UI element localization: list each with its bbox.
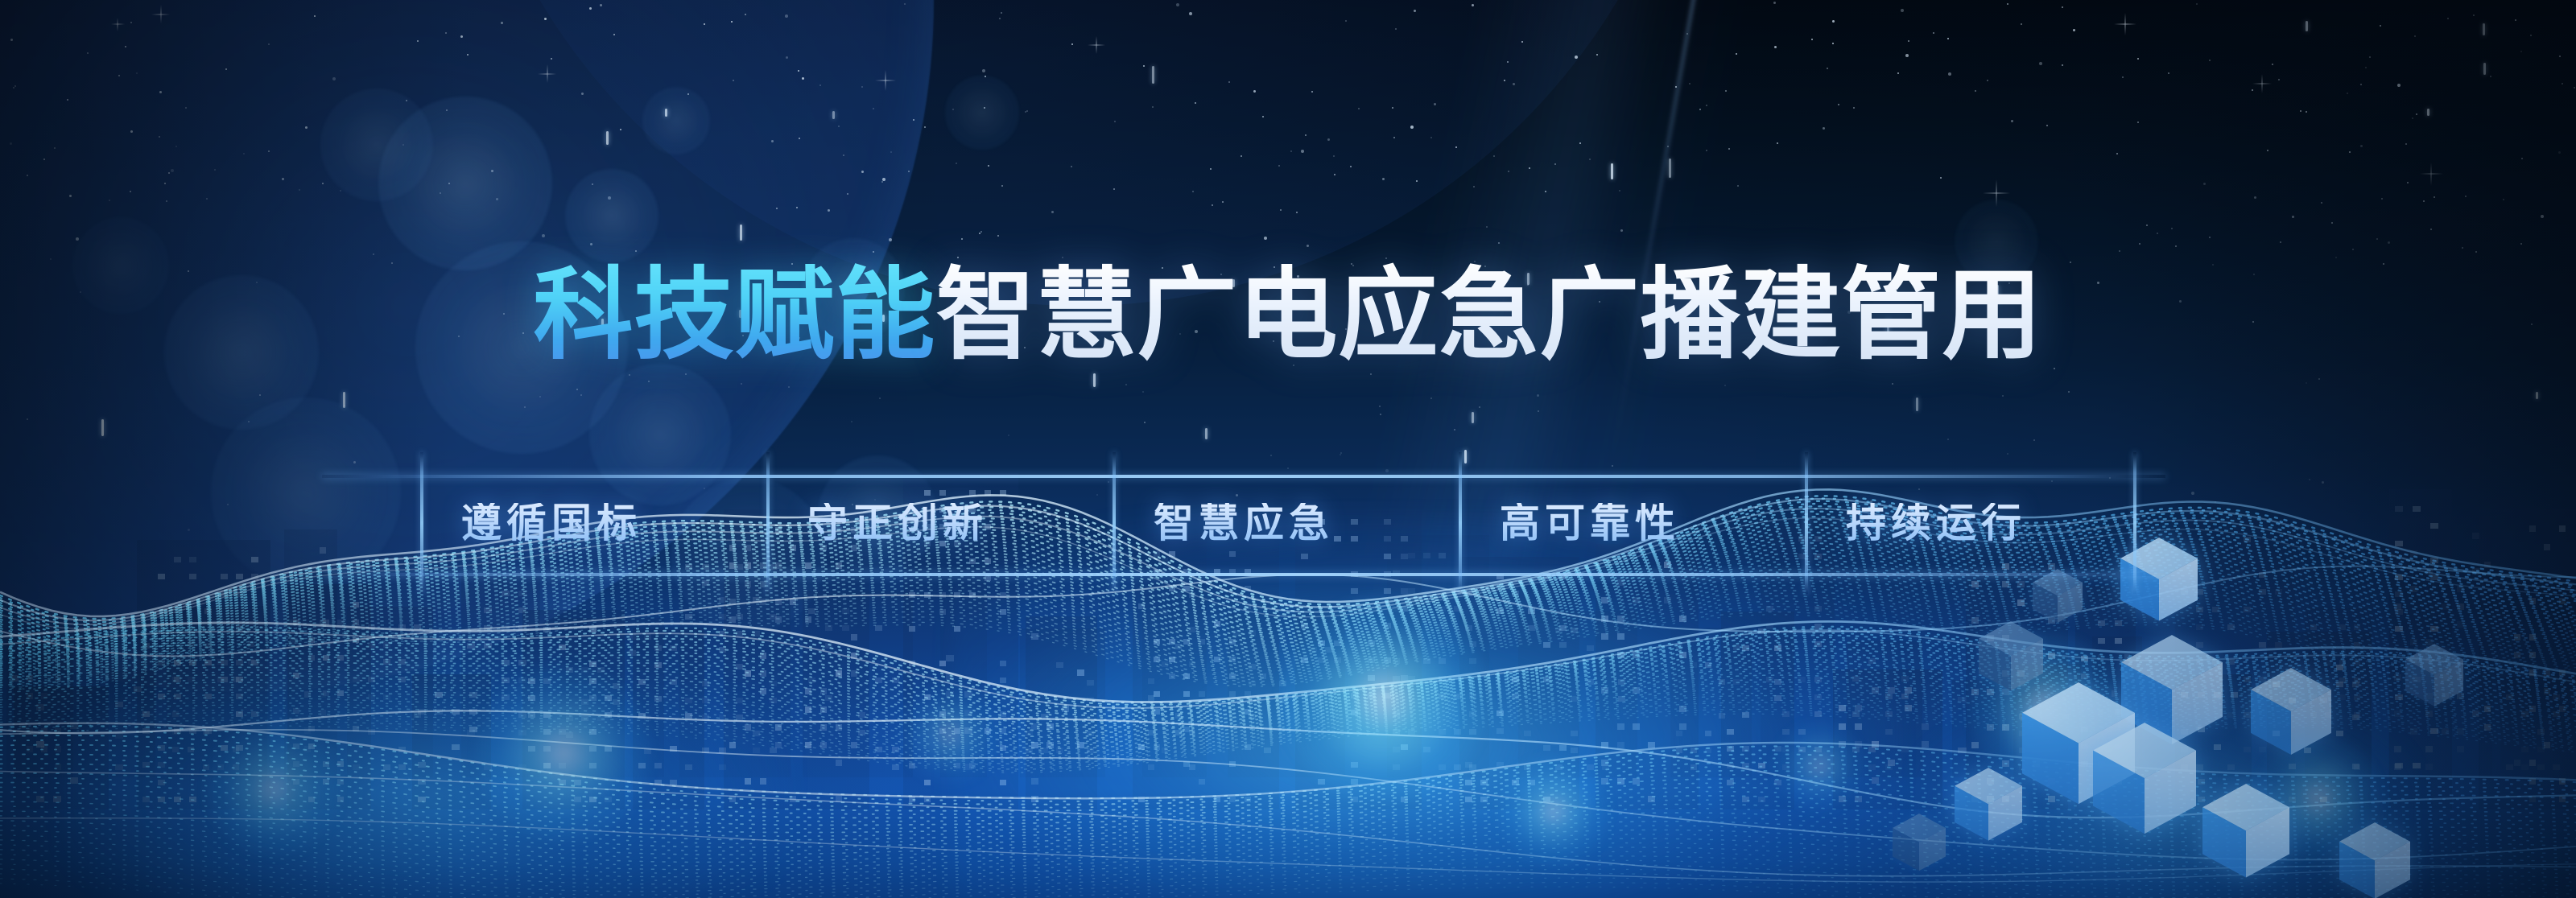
tag-item-5[interactable]: 持续运行: [1763, 503, 2109, 543]
banner-content: 科技赋能智慧广电应急广播建管用 遵循国标 守正创新 智慧应急 高可靠性 持续运行: [0, 0, 2576, 898]
tag-list: 遵循国标 守正创新 智慧应急 高可靠性 持续运行: [322, 467, 2165, 579]
title-main-text: 智慧广电应急广播建管用: [936, 260, 2043, 371]
tag-item-2[interactable]: 守正创新: [724, 503, 1071, 543]
tag-item-3[interactable]: 智慧应急: [1071, 503, 1417, 543]
tag-item-4[interactable]: 高可靠性: [1417, 503, 1763, 543]
tag-item-1[interactable]: 遵循国标: [378, 503, 724, 543]
tag-bar: 遵循国标 守正创新 智慧应急 高可靠性 持续运行: [322, 467, 2165, 579]
banner-title: 科技赋能智慧广电应急广播建管用: [0, 266, 2576, 365]
banner-stage: 科技赋能智慧广电应急广播建管用 遵循国标 守正创新 智慧应急 高可靠性 持续运行: [0, 0, 2576, 898]
title-accent-text: 科技赋能: [533, 260, 935, 371]
